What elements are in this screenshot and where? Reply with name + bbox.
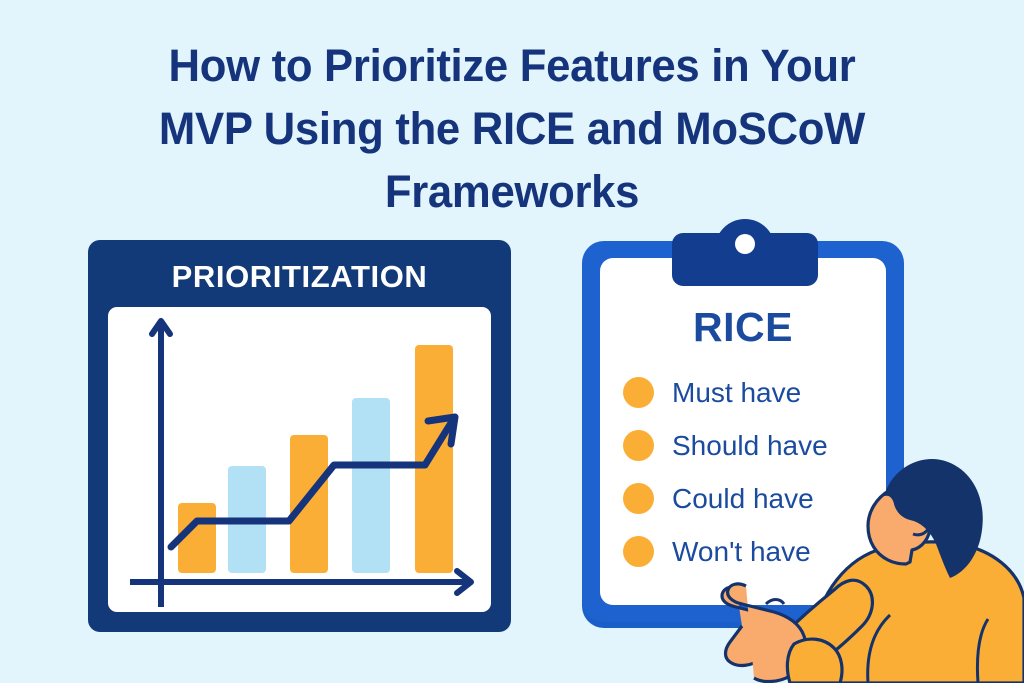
- list-item[interactable]: Won't have: [623, 525, 903, 578]
- chart-bar-5: [415, 345, 453, 573]
- clipboard: RICE Must have Should have Could have Wo…: [578, 211, 908, 633]
- chart-bar-3: [290, 435, 328, 573]
- prioritization-card: PRIORITIZATION: [88, 240, 511, 632]
- clipboard-clip-icon: [672, 219, 818, 286]
- page-title: How to Prioritize Features in Your MVP U…: [76, 34, 949, 223]
- list-item-label: Should have: [672, 430, 828, 462]
- bullet-dot-icon: [623, 430, 654, 461]
- bullet-dot-icon: [623, 377, 654, 408]
- list-item-label: Could have: [672, 483, 814, 515]
- list-item[interactable]: Must have: [623, 366, 903, 419]
- bar-chart: [108, 307, 491, 612]
- clipboard-heading: RICE: [608, 304, 878, 351]
- list-item[interactable]: Could have: [623, 472, 903, 525]
- infographic-canvas: How to Prioritize Features in Your MVP U…: [0, 0, 1024, 683]
- list-item[interactable]: Should have: [623, 419, 903, 472]
- clipboard-list: Must have Should have Could have Won't h…: [623, 366, 903, 578]
- page-title-line-1: How to Prioritize Features in Your: [76, 34, 949, 97]
- chart-panel: [108, 307, 491, 612]
- list-item-label: Must have: [672, 377, 801, 409]
- chart-bars: [178, 345, 453, 573]
- prioritization-card-title: PRIORITIZATION: [88, 259, 511, 295]
- bullet-dot-icon: [623, 536, 654, 567]
- chart-bar-4: [352, 398, 390, 573]
- page-title-line-2: MVP Using the RICE and MoSCoW: [76, 97, 949, 160]
- list-item-label: Won't have: [672, 536, 811, 568]
- bullet-dot-icon: [623, 483, 654, 514]
